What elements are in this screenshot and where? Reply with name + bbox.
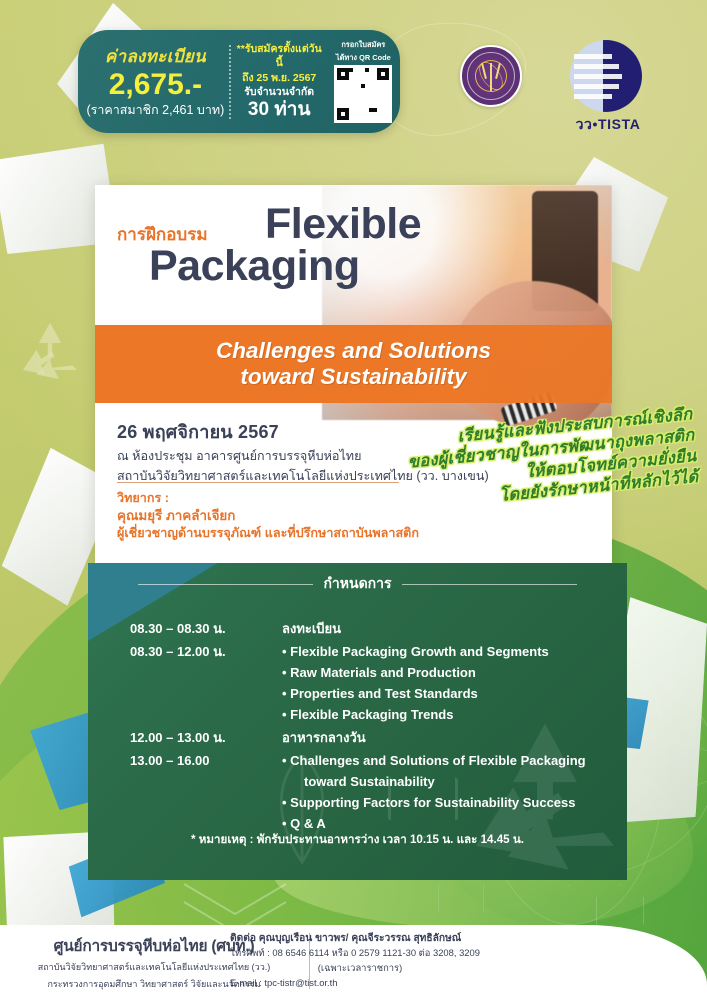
note-line-2: ถึง 25 พ.ย. 2567 [235, 71, 324, 85]
agenda-items: อาหารกลางวัน [282, 727, 607, 748]
agenda-row: 08.30 – 08.30 น.ลงทะเบียน [130, 618, 607, 639]
agenda-item: ลงทะเบียน [282, 618, 607, 639]
agenda-items: ลงทะเบียน [282, 618, 607, 639]
agenda-time: 08.30 – 08.30 น. [130, 618, 282, 639]
tistr-wordmark: วว•TISTA [562, 114, 654, 136]
registration-note: **รับสมัครตั้งแต่วันนี้ ถึง 25 พ.ย. 2567… [232, 42, 327, 121]
agenda-note: * หมายเหตุ : พักรับประทานอาหารว่าง เวลา … [88, 831, 627, 849]
fee-member-price: (ราคาสมาชิก 2,461 บาท) [82, 100, 229, 120]
footer: ศูนย์การบรรจุหีบห่อไทย (ศบท.) สถาบันวิจั… [0, 925, 707, 1000]
qr-code-image[interactable] [334, 65, 392, 123]
note-line-3: รับจำนวนจำกัด [235, 85, 324, 99]
qr-block: กรอกใบสมัคร ได้ทาง QR Code [327, 40, 400, 123]
subtitle-banner: Challenges and Solutions toward Sustaina… [95, 325, 612, 403]
title-line-1: Flexible [265, 200, 421, 248]
fee-title: ค่าลงทะเบียน [82, 43, 229, 70]
agenda-time: 12.00 – 13.00 น. [130, 727, 282, 748]
agenda-item: อาหารกลางวัน [282, 727, 607, 748]
fee-amount: 2,675.- [82, 69, 229, 101]
subtitle-line-2: toward Sustainability [240, 364, 466, 390]
agenda-item: toward Sustainability [282, 771, 607, 792]
agenda-item: • Raw Materials and Production [282, 662, 607, 683]
content-card: Flexible Packaging การฝึกอบรม Challenges… [95, 185, 612, 563]
agenda-item: • Properties and Test Standards [282, 683, 607, 704]
footer-email[interactable]: E-mail : tpc-tistr@tist.or.th [230, 975, 560, 991]
poster-page: ค่าลงทะเบียน 2,675.- (ราคาสมาชิก 2,461 บ… [0, 0, 707, 1000]
agenda-items: • Challenges and Solutions of Flexible P… [282, 750, 607, 834]
eyebrow-label: การฝึกอบรม [117, 221, 208, 248]
fee-left-block: ค่าลงทะเบียน 2,675.- (ราคาสมาชิก 2,461 บ… [78, 43, 229, 120]
speaker-role: ผู้เชี่ยวชาญด้านบรรจุภัณฑ์ และที่ปรึกษาส… [117, 523, 419, 543]
agenda-rows: 08.30 – 08.30 น.ลงทะเบียน08.30 – 12.00 น… [130, 618, 607, 836]
agenda-row: 12.00 – 13.00 น.อาหารกลางวัน [130, 727, 607, 748]
footer-contact-names: ติดต่อ คุณบุญเรือน ขาวพร/ คุณจีระวรรณ สุ… [230, 931, 560, 946]
seats-count: 30 ท่าน [235, 99, 324, 121]
agenda-item: • Challenges and Solutions of Flexible P… [282, 750, 607, 771]
recycle-icon [14, 316, 86, 388]
agenda-item: • Supporting Factors for Sustainability … [282, 792, 607, 813]
agenda-row: 08.30 – 12.00 น.• Flexible Packaging Gro… [130, 641, 607, 725]
qr-caption-line-1: กรอกใบสมัคร [327, 40, 400, 50]
agenda-panel: กำหนดการ 08.30 – 08.30 น.ลงทะเบียน08.30 … [88, 563, 627, 880]
footer-contact-block: ติดต่อ คุณบุญเรือน ขาวพร/ คุณจีระวรรณ สุ… [230, 931, 560, 991]
agenda-heading-text: กำหนดการ [323, 573, 391, 595]
title-line-2: Packaging [149, 242, 360, 290]
heading-rule-right [402, 584, 577, 585]
qr-caption-line-2: ได้ทาง QR Code [327, 53, 400, 63]
tistr-seal-icon [460, 45, 522, 107]
agenda-time: 08.30 – 12.00 น. [130, 641, 282, 725]
footer-hours: (เฉพาะเวลาราชการ) [230, 961, 490, 976]
fee-banner: ค่าลงทะเบียน 2,675.- (ราคาสมาชิก 2,461 บ… [78, 30, 400, 133]
agenda-row: 13.00 – 16.00• Challenges and Solutions … [130, 750, 607, 834]
subtitle-line-1: Challenges and Solutions [216, 338, 491, 364]
tistr-logo-icon [570, 40, 642, 112]
agenda-time: 13.00 – 16.00 [130, 750, 282, 834]
heading-rule-left [138, 584, 313, 585]
agenda-item: • Flexible Packaging Growth and Segments [282, 641, 607, 662]
agenda-items: • Flexible Packaging Growth and Segments… [282, 641, 607, 725]
note-line-1: **รับสมัครตั้งแต่วันนี้ [235, 42, 324, 70]
divider [117, 482, 399, 483]
agenda-heading: กำหนดการ [88, 573, 627, 595]
agenda-item: • Flexible Packaging Trends [282, 704, 607, 725]
footer-phone: โทรศัพท์ : 08 6546 6114 หรือ 0 2579 1121… [230, 946, 560, 961]
